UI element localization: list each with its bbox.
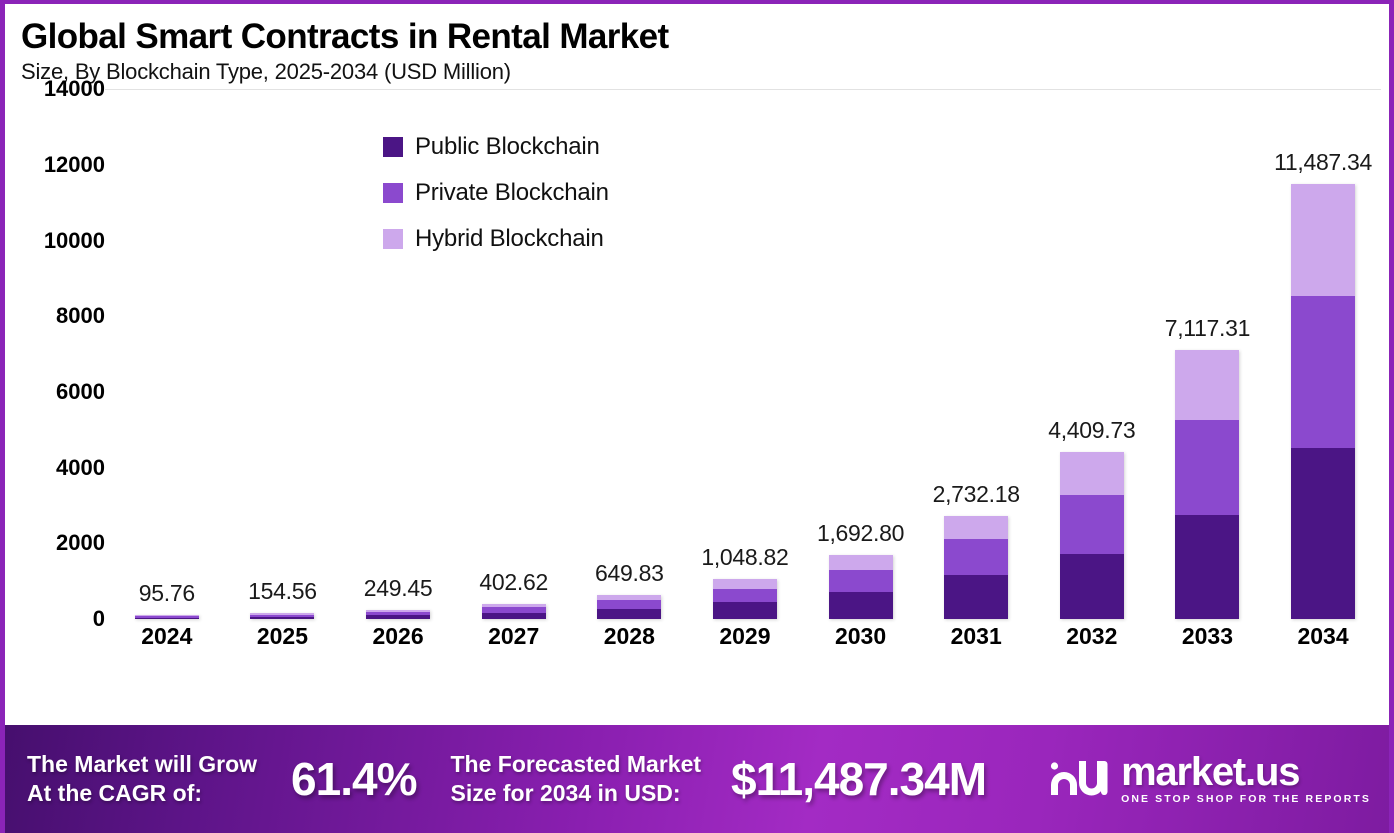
legend-swatch-icon xyxy=(383,137,403,157)
bar-segment[interactable] xyxy=(829,592,893,620)
bar-value-label: 11,487.34 xyxy=(1274,149,1372,176)
forecast-label-line1: The Forecasted Market xyxy=(450,750,701,779)
bar-column[interactable]: 1,692.80 xyxy=(803,89,919,619)
bar-segment[interactable] xyxy=(1060,495,1124,553)
bar-segment[interactable] xyxy=(1291,296,1355,448)
bar-value-label: 1,692.80 xyxy=(817,520,904,547)
bar-column[interactable]: 7,117.31 xyxy=(1150,89,1266,619)
bar-column[interactable]: 11,487.34 xyxy=(1265,89,1381,619)
forecast-value: $11,487.34M xyxy=(731,752,986,806)
y-axis: 02000400060008000100001200014000 xyxy=(5,89,105,619)
bar-value-label: 649.83 xyxy=(595,560,664,587)
cagr-label-line2: At the CAGR of: xyxy=(27,779,257,808)
bar-stack[interactable] xyxy=(482,604,546,619)
bar-value-label: 402.62 xyxy=(479,569,548,596)
bar-value-label: 95.76 xyxy=(139,580,195,607)
bar-value-label: 2,732.18 xyxy=(933,481,1020,508)
x-axis: 2024202520262027202820292030203120322033… xyxy=(109,623,1381,650)
bar-stack[interactable] xyxy=(250,613,314,619)
chart-legend: Public BlockchainPrivate BlockchainHybri… xyxy=(383,133,609,271)
brand-logo[interactable]: market.us ONE STOP SHOP FOR THE REPORTS xyxy=(1047,753,1371,805)
bar-segment[interactable] xyxy=(597,609,661,620)
bar-segment[interactable] xyxy=(829,570,893,592)
x-axis-tick: 2029 xyxy=(687,623,803,650)
y-axis-tick: 12000 xyxy=(44,152,105,178)
bar-stack[interactable] xyxy=(135,615,199,619)
bar-stack[interactable] xyxy=(713,579,777,619)
legend-item-label: Public Blockchain xyxy=(415,133,600,161)
legend-item-label: Private Blockchain xyxy=(415,179,609,207)
bar-segment[interactable] xyxy=(1175,420,1239,515)
footer-banner: The Market will Grow At the CAGR of: 61.… xyxy=(5,725,1394,833)
bar-value-label: 4,409.73 xyxy=(1048,417,1135,444)
bar-segment[interactable] xyxy=(944,575,1008,619)
cagr-value: 61.4% xyxy=(291,752,416,806)
legend-item-label: Hybrid Blockchain xyxy=(415,225,604,253)
legend-item[interactable]: Hybrid Blockchain xyxy=(383,225,609,253)
bar-segment[interactable] xyxy=(597,600,661,608)
bar-value-label: 154.56 xyxy=(248,578,317,605)
bar-stack[interactable] xyxy=(944,516,1008,619)
bar-segment[interactable] xyxy=(1291,448,1355,619)
bar-value-label: 1,048.82 xyxy=(701,544,788,571)
y-axis-tick: 14000 xyxy=(44,76,105,102)
bar-segment[interactable] xyxy=(713,589,777,602)
x-axis-tick: 2026 xyxy=(340,623,456,650)
bar-stack[interactable] xyxy=(1175,350,1239,619)
bar-segment[interactable] xyxy=(713,579,777,588)
x-axis-tick: 2030 xyxy=(803,623,919,650)
bar-column[interactable]: 154.56 xyxy=(225,89,341,619)
market-us-mark-icon xyxy=(1047,755,1109,804)
bar-stack[interactable] xyxy=(1060,452,1124,619)
bar-segment[interactable] xyxy=(250,617,314,620)
bar-column[interactable]: 95.76 xyxy=(109,89,225,619)
x-axis-tick: 2028 xyxy=(572,623,688,650)
bar-segment[interactable] xyxy=(1291,184,1355,296)
chart-header: Global Smart Contracts in Rental Market … xyxy=(5,4,1389,85)
chart-plot-area: 02000400060008000100001200014000 95.7615… xyxy=(5,89,1389,689)
infographic-root: Global Smart Contracts in Rental Market … xyxy=(0,0,1394,833)
bar-segment[interactable] xyxy=(944,516,1008,540)
y-axis-tick: 6000 xyxy=(56,379,105,405)
bar-segment[interactable] xyxy=(829,555,893,570)
bar-column[interactable]: 1,048.82 xyxy=(687,89,803,619)
cagr-label-line1: The Market will Grow xyxy=(27,750,257,779)
logo-wordmark: market.us xyxy=(1121,753,1371,791)
legend-item[interactable]: Private Blockchain xyxy=(383,179,609,207)
bar-segment[interactable] xyxy=(713,602,777,619)
x-axis-tick: 2033 xyxy=(1150,623,1266,650)
bar-segment[interactable] xyxy=(366,615,430,619)
logo-tagline: ONE STOP SHOP FOR THE REPORTS xyxy=(1121,793,1371,805)
y-axis-tick: 0 xyxy=(93,606,105,632)
forecast-label-line2: Size for 2034 in USD: xyxy=(450,779,701,808)
logo-text-block: market.us ONE STOP SHOP FOR THE REPORTS xyxy=(1121,753,1371,805)
page-subtitle: Size, By Blockchain Type, 2025-2034 (USD… xyxy=(21,59,1389,85)
bar-segment[interactable] xyxy=(1060,452,1124,495)
bar-stack[interactable] xyxy=(1291,184,1355,619)
bar-segment[interactable] xyxy=(944,539,1008,574)
legend-swatch-icon xyxy=(383,229,403,249)
y-axis-tick: 10000 xyxy=(44,228,105,254)
bar-value-label: 249.45 xyxy=(364,575,433,602)
bar-segment[interactable] xyxy=(482,613,546,620)
cagr-label: The Market will Grow At the CAGR of: xyxy=(27,750,257,808)
x-axis-tick: 2025 xyxy=(225,623,341,650)
x-axis-tick: 2031 xyxy=(918,623,1034,650)
x-axis-tick: 2027 xyxy=(456,623,572,650)
bar-stack[interactable] xyxy=(597,595,661,620)
legend-item[interactable]: Public Blockchain xyxy=(383,133,609,161)
y-axis-tick: 2000 xyxy=(56,530,105,556)
bar-column[interactable]: 4,409.73 xyxy=(1034,89,1150,619)
legend-swatch-icon xyxy=(383,183,403,203)
bar-segment[interactable] xyxy=(1175,515,1239,619)
bar-column[interactable]: 2,732.18 xyxy=(918,89,1034,619)
x-axis-tick: 2032 xyxy=(1034,623,1150,650)
bar-segment[interactable] xyxy=(1060,554,1124,619)
bar-stack[interactable] xyxy=(366,610,430,619)
x-axis-tick: 2024 xyxy=(109,623,225,650)
forecast-label: The Forecasted Market Size for 2034 in U… xyxy=(450,750,701,808)
bars-container: 95.76154.56249.45402.62649.831,048.821,6… xyxy=(109,89,1381,619)
bar-stack[interactable] xyxy=(829,555,893,619)
bar-segment[interactable] xyxy=(1175,350,1239,420)
y-axis-tick: 8000 xyxy=(56,303,105,329)
bar-segment[interactable] xyxy=(135,618,199,620)
page-title: Global Smart Contracts in Rental Market xyxy=(21,18,1389,55)
x-axis-tick: 2034 xyxy=(1265,623,1381,650)
bar-value-label: 7,117.31 xyxy=(1165,315,1250,342)
y-axis-tick: 4000 xyxy=(56,455,105,481)
